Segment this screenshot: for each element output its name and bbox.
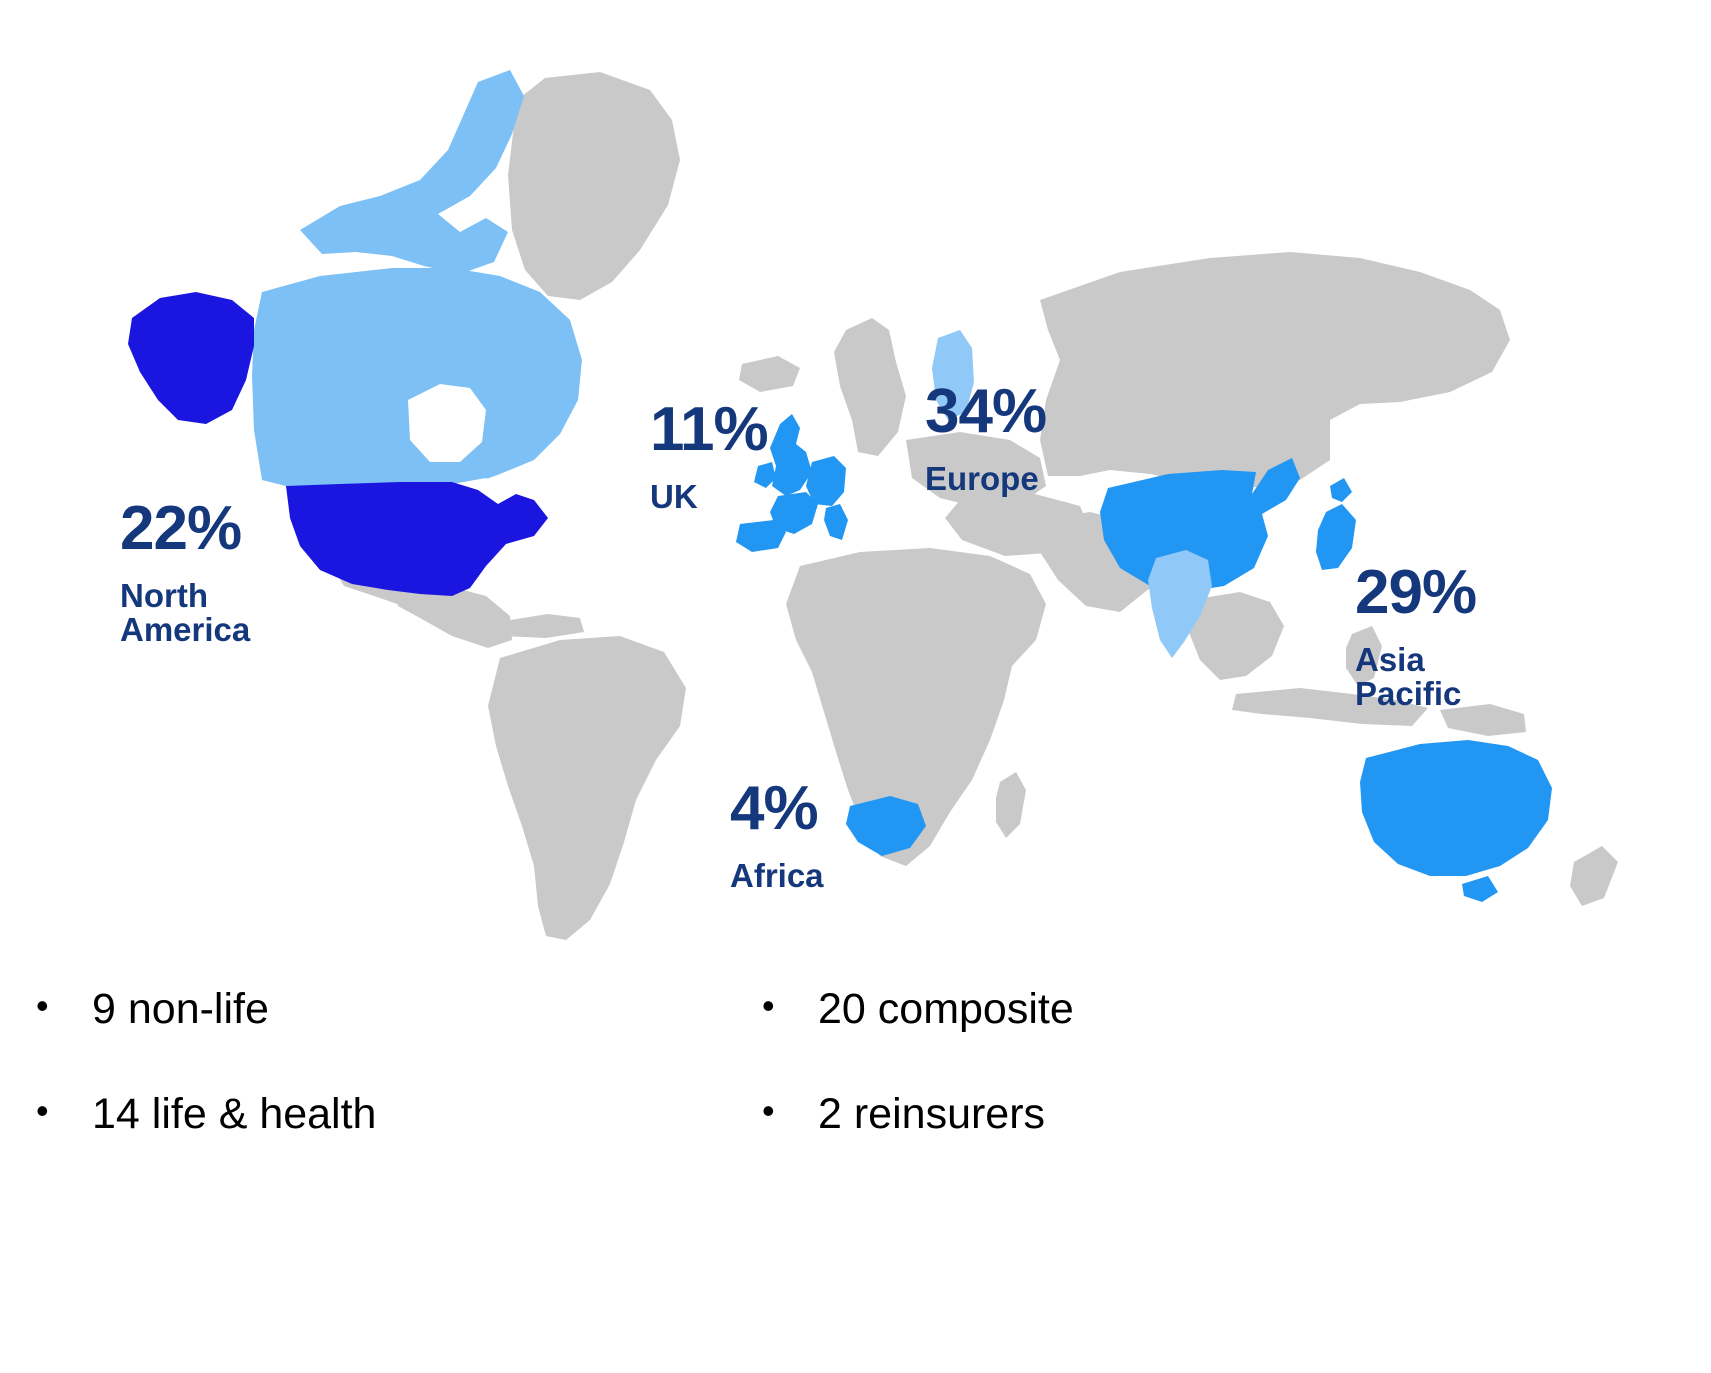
bullet-dot-icon: • [762,1090,818,1131]
region-label-uk: 11% UK [650,385,768,530]
region-percent-africa: 4% [730,780,824,839]
region-percent-europe: 34% [925,383,1046,442]
greenland-shape [508,72,680,300]
bullet-column-left: • 9 non-life • 14 life & health [36,985,376,1196]
region-percent-north-america: 22% [120,500,250,559]
slide-canvas: 22% North America 11% UK 34% Europe 29% … [0,0,1711,1373]
canada-arctic-shape [300,70,524,274]
region-label-africa: 4% Africa [730,764,824,909]
madagascar-shape [996,772,1026,838]
region-percent-uk: 11% [650,401,768,460]
list-item: • 20 composite [762,985,1074,1034]
world-map: 22% North America 11% UK 34% Europe 29% … [0,0,1711,980]
list-item: • 14 life & health [36,1090,376,1139]
australia-shape [1360,740,1552,902]
bullet-text: 2 reinsurers [818,1090,1045,1139]
russia-asia-shape [1040,252,1510,488]
bullet-text: 20 composite [818,985,1074,1034]
usa-shape [286,482,548,596]
alaska-shape [128,292,254,424]
south-america-shape [488,636,686,940]
region-name-asia-pacific: Asia Pacific [1355,643,1476,712]
bullet-text: 14 life & health [92,1090,376,1139]
list-item: • 2 reinsurers [762,1090,1074,1139]
region-label-north-america: 22% North America [120,484,250,664]
scandinavia-shape [834,318,906,456]
bullet-lists: • 9 non-life • 14 life & health • 20 com… [0,985,1711,1285]
caribbean-shape [498,614,584,638]
bullet-dot-icon: • [36,985,92,1026]
bullet-dot-icon: • [762,985,818,1026]
region-label-asia-pacific: 29% Asia Pacific [1355,548,1476,728]
list-item: • 9 non-life [36,985,376,1034]
region-name-africa: Africa [730,859,824,893]
bullet-text: 9 non-life [92,985,269,1034]
region-name-europe: Europe [925,462,1046,496]
region-name-uk: UK [650,480,768,514]
canada-mainland-shape [252,268,582,488]
region-percent-asia-pacific: 29% [1355,564,1476,623]
bullet-column-right: • 20 composite • 2 reinsurers [762,985,1074,1196]
region-label-europe: 34% Europe [925,367,1046,512]
italy-shape [824,504,848,540]
world-map-svg [0,0,1711,980]
bullet-dot-icon: • [36,1090,92,1131]
uk-shape [770,414,812,496]
japan-shape [1316,478,1356,570]
new-zealand-base-shape [1570,846,1618,906]
region-name-north-america: North America [120,579,250,648]
